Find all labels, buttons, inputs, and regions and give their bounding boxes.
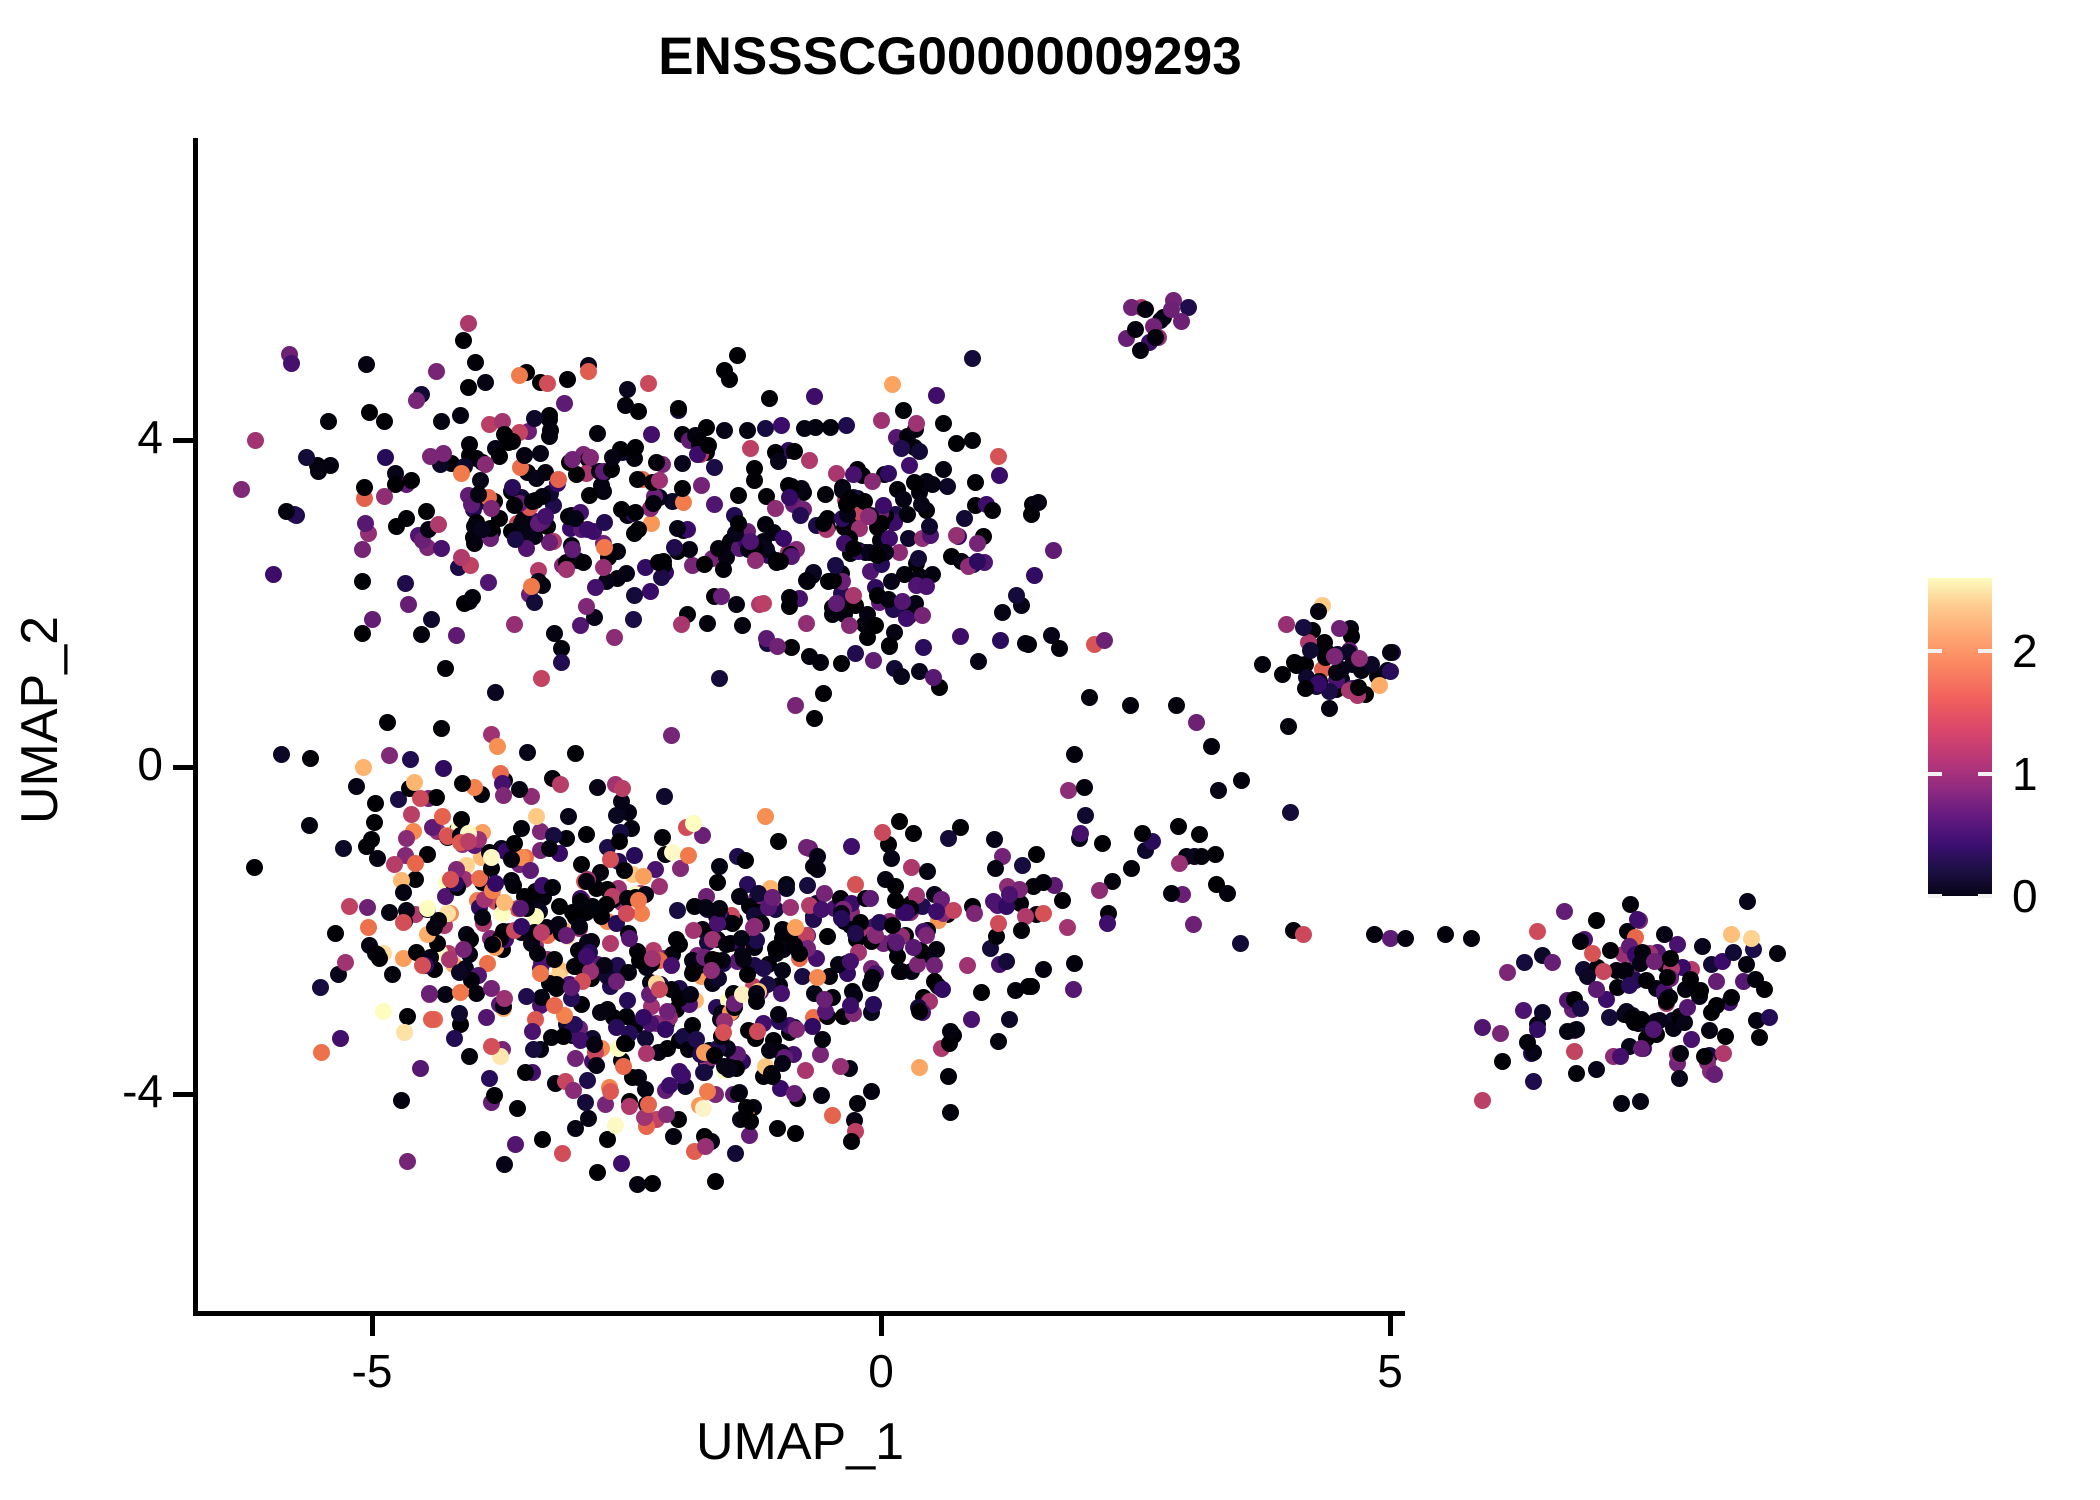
- scatter-point: [460, 379, 477, 396]
- scatter-point: [847, 645, 864, 662]
- scatter-point: [302, 750, 319, 767]
- scatter-point: [715, 561, 732, 578]
- scatter-point: [1662, 950, 1679, 967]
- scatter-point: [1094, 835, 1111, 852]
- scatter-point: [865, 652, 882, 669]
- scatter-point: [934, 981, 951, 998]
- scatter-point: [533, 924, 550, 941]
- scatter-point: [428, 363, 445, 380]
- scatter-point: [1676, 1014, 1693, 1031]
- scatter-point: [1185, 916, 1202, 933]
- scatter-point: [1397, 930, 1414, 947]
- scatter-point: [614, 780, 631, 797]
- scatter-point: [757, 808, 774, 825]
- scatter-point: [407, 855, 424, 872]
- colorbar-tick: [1928, 649, 1942, 653]
- colorbar-tick: [1928, 772, 1942, 776]
- scatter-point: [1331, 620, 1348, 637]
- scatter-point: [787, 1125, 804, 1142]
- scatter-point: [564, 451, 581, 468]
- scatter-point: [552, 776, 569, 793]
- scatter-point: [369, 850, 386, 867]
- scatter-point: [1072, 825, 1089, 842]
- scatter-point: [337, 954, 354, 971]
- scatter-point: [1588, 912, 1605, 929]
- scatter-point: [1020, 636, 1037, 653]
- scatter-point: [377, 449, 394, 466]
- scatter-point: [1626, 1014, 1643, 1031]
- scatter-point: [606, 629, 623, 646]
- scatter-point: [1529, 1021, 1546, 1038]
- scatter-plot-area: [196, 138, 1404, 1313]
- scatter-point: [769, 1120, 786, 1137]
- scatter-point: [619, 381, 636, 398]
- scatter-point: [964, 350, 981, 367]
- scatter-point: [806, 710, 823, 727]
- scatter-point: [627, 439, 644, 456]
- scatter-point: [496, 894, 513, 911]
- scatter-point: [546, 625, 563, 642]
- scatter-point: [994, 604, 1011, 621]
- scatter-point: [448, 627, 465, 644]
- scatter-point: [1295, 926, 1312, 943]
- scatter-point: [804, 1018, 821, 1035]
- scatter-point: [820, 573, 837, 590]
- scatter-point: [1463, 930, 1480, 947]
- scatter-point: [883, 850, 900, 867]
- scatter-point: [862, 975, 879, 992]
- scatter-point: [895, 402, 912, 419]
- scatter-point: [635, 1009, 652, 1026]
- scatter-point: [363, 831, 380, 848]
- scatter-point: [403, 806, 420, 823]
- scatter-point: [626, 525, 643, 542]
- scatter-point: [1065, 981, 1082, 998]
- scatter-point: [558, 561, 575, 578]
- scatter-point: [1534, 1004, 1551, 1021]
- scatter-point: [559, 371, 576, 388]
- scatter-point: [506, 835, 523, 852]
- scatter-point: [461, 1048, 478, 1065]
- scatter-point: [1696, 1048, 1713, 1065]
- scatter-point: [788, 1021, 805, 1038]
- scatter-point: [684, 965, 701, 982]
- scatter-point: [787, 919, 804, 936]
- scatter-point: [567, 1120, 584, 1137]
- scatter-point: [1310, 603, 1327, 620]
- scatter-point: [1568, 1065, 1585, 1082]
- scatter-point: [774, 1055, 791, 1072]
- scatter-point: [864, 473, 881, 490]
- scatter-point: [1188, 714, 1205, 731]
- scatter-point: [940, 1068, 957, 1085]
- scatter-point: [433, 413, 450, 430]
- scatter-point: [376, 488, 393, 505]
- scatter-point: [1066, 746, 1083, 763]
- scatter-point: [413, 626, 430, 643]
- scatter-point: [312, 979, 329, 996]
- scatter-point: [700, 437, 717, 454]
- scatter-point: [579, 1072, 596, 1089]
- scatter-point: [423, 611, 440, 628]
- scatter-point: [671, 936, 688, 953]
- scatter-point: [403, 472, 420, 489]
- scatter-point: [1203, 738, 1220, 755]
- scatter-point: [341, 898, 358, 915]
- scatter-point: [727, 1145, 744, 1162]
- scatter-point: [697, 1138, 714, 1155]
- scatter-point: [673, 616, 690, 633]
- scatter-point: [399, 1008, 416, 1025]
- scatter-point: [1515, 1002, 1532, 1019]
- scatter-point: [935, 461, 952, 478]
- scatter-point: [507, 1136, 524, 1153]
- scatter-point: [1595, 963, 1612, 980]
- scatter-point: [426, 919, 443, 936]
- scatter-point: [578, 826, 595, 843]
- scatter-point: [433, 540, 450, 557]
- scatter-point: [517, 1064, 534, 1081]
- scatter-point: [842, 997, 859, 1014]
- scatter-point: [769, 638, 786, 655]
- scatter-point: [511, 367, 528, 384]
- scatter-point: [556, 395, 573, 412]
- scatter-point: [755, 960, 772, 977]
- scatter-point: [1559, 1023, 1576, 1040]
- scatter-point: [1163, 885, 1180, 902]
- y-tick--4: [173, 1092, 194, 1097]
- scatter-point: [1035, 905, 1052, 922]
- scatter-point: [827, 557, 844, 574]
- scatter-point: [659, 1040, 676, 1057]
- scatter-point: [699, 1083, 716, 1100]
- scatter-point: [503, 872, 520, 889]
- y-axis-line: [193, 138, 198, 1316]
- scatter-point: [518, 988, 535, 1005]
- scatter-point: [355, 759, 372, 776]
- scatter-point: [638, 1045, 655, 1062]
- scatter-point: [963, 1011, 980, 1028]
- scatter-point: [730, 487, 747, 504]
- scatter-point: [1743, 930, 1760, 947]
- scatter-point: [663, 727, 680, 744]
- scatter-point: [504, 479, 521, 496]
- scatter-point: [874, 824, 891, 841]
- scatter-point: [734, 617, 751, 634]
- scatter-point: [1278, 616, 1295, 633]
- scatter-point: [596, 539, 613, 556]
- y-tick-4: [173, 438, 194, 443]
- scatter-point: [1123, 860, 1140, 877]
- scatter-point: [969, 553, 986, 570]
- scatter-point: [1708, 997, 1725, 1014]
- scatter-point: [629, 471, 646, 488]
- scatter-point: [247, 432, 264, 449]
- scatter-point: [1051, 640, 1068, 657]
- colorbar-tick: [1978, 772, 1992, 776]
- scatter-point: [381, 747, 398, 764]
- scatter-point: [778, 880, 795, 897]
- scatter-point: [1679, 999, 1696, 1016]
- scatter-point: [663, 957, 680, 974]
- scatter-point: [1326, 648, 1343, 665]
- scatter-point: [273, 746, 290, 763]
- scatter-point: [503, 851, 520, 868]
- scatter-point: [843, 1133, 860, 1150]
- scatter-point: [480, 574, 497, 591]
- scatter-point: [470, 486, 487, 503]
- scatter-point: [891, 813, 908, 830]
- scatter-point: [761, 1042, 778, 1059]
- scatter-point: [598, 896, 615, 913]
- scatter-point: [1280, 718, 1297, 735]
- scatter-point: [1672, 1045, 1689, 1062]
- scatter-point: [434, 808, 451, 825]
- scatter-point: [407, 871, 424, 888]
- scatter-point: [1529, 923, 1546, 940]
- scatter-point: [653, 569, 670, 586]
- scatter-point: [587, 579, 604, 596]
- x-tick-label--5: -5: [352, 1344, 393, 1398]
- scatter-point: [842, 953, 859, 970]
- scatter-point: [770, 453, 787, 470]
- scatter-point: [669, 902, 686, 919]
- scatter-point: [924, 476, 941, 493]
- scatter-point: [613, 501, 630, 518]
- scatter-point: [959, 957, 976, 974]
- scatter-point: [526, 594, 543, 611]
- scatter-point: [359, 899, 376, 916]
- scatter-point: [739, 422, 756, 439]
- scatter-point: [706, 459, 723, 476]
- scatter-point: [1191, 826, 1208, 843]
- scatter-point: [384, 966, 401, 983]
- scatter-point: [798, 572, 815, 589]
- scatter-point: [1638, 972, 1655, 989]
- colorbar-tick: [1978, 649, 1992, 653]
- scatter-point: [654, 829, 671, 846]
- scatter-point: [617, 397, 634, 414]
- scatter-point: [626, 847, 643, 864]
- scatter-point: [833, 655, 850, 672]
- scatter-point: [801, 648, 818, 665]
- scatter-point: [845, 540, 862, 557]
- scatter-point: [1035, 961, 1052, 978]
- scatter-point: [1382, 930, 1399, 947]
- scatter-point: [699, 615, 716, 632]
- colorbar-label-2: 2: [2012, 624, 2038, 678]
- scatter-point: [453, 465, 470, 482]
- scatter-point: [483, 1038, 500, 1055]
- scatter-point: [298, 449, 315, 466]
- scatter-point: [730, 515, 747, 532]
- scatter-point: [710, 540, 727, 557]
- chart-canvas: ENSSSCG00000009293 -404 -505 UMAP_1 UMAP…: [0, 0, 2100, 1500]
- scatter-point: [451, 1005, 468, 1022]
- scatter-point: [774, 962, 791, 979]
- scatter-point: [1723, 989, 1740, 1006]
- scatter-point: [1525, 1073, 1542, 1090]
- scatter-point: [695, 1100, 712, 1117]
- scatter-point: [460, 315, 477, 332]
- scatter-point: [477, 456, 494, 473]
- scatter-point: [1701, 1022, 1718, 1039]
- scatter-point: [618, 565, 635, 582]
- scatter-point: [1474, 1019, 1491, 1036]
- scatter-point: [867, 617, 884, 634]
- scatter-point: [737, 852, 754, 869]
- scatter-point: [716, 1058, 733, 1075]
- scatter-point: [709, 874, 726, 891]
- scatter-point: [862, 890, 879, 907]
- scatter-point: [893, 668, 910, 685]
- scatter-point: [915, 639, 932, 656]
- scatter-point: [301, 817, 318, 834]
- scatter-point: [423, 1011, 440, 1028]
- scatter-point: [496, 1156, 513, 1173]
- scatter-point: [928, 903, 945, 920]
- scatter-point: [739, 966, 756, 983]
- scatter-point: [905, 939, 922, 956]
- scatter-point: [546, 997, 563, 1014]
- scatter-point: [863, 1083, 880, 1100]
- scatter-point: [1645, 1021, 1662, 1038]
- scatter-point: [1632, 1093, 1649, 1110]
- scatter-point: [906, 474, 923, 491]
- scatter-point: [466, 535, 483, 552]
- scatter-point: [1371, 677, 1388, 694]
- scatter-point: [608, 1019, 625, 1036]
- scatter-point: [398, 830, 415, 847]
- scatter-point: [626, 587, 643, 604]
- scatter-point: [354, 625, 371, 642]
- scatter-point: [596, 514, 613, 531]
- x-tick-0: [879, 1316, 884, 1336]
- scatter-point: [578, 873, 595, 890]
- scatter-point: [1060, 782, 1077, 799]
- scatter-point: [873, 412, 890, 429]
- scatter-point: [742, 1113, 759, 1130]
- scatter-point: [1613, 1095, 1630, 1112]
- scatter-point: [1282, 804, 1299, 821]
- scatter-point: [1437, 926, 1454, 943]
- scatter-point: [402, 751, 419, 768]
- scatter-point: [815, 685, 832, 702]
- scatter-point: [1516, 954, 1533, 971]
- scatter-point: [544, 879, 561, 896]
- scatter-point: [532, 445, 549, 462]
- scatter-point: [327, 925, 344, 942]
- y-tick-label--4: -4: [0, 1064, 163, 1118]
- scatter-point: [478, 1009, 495, 1026]
- scatter-point: [1091, 882, 1108, 899]
- scatter-point: [696, 556, 713, 573]
- scatter-point: [728, 596, 745, 613]
- scatter-point: [1045, 542, 1062, 559]
- scatter-point: [360, 919, 377, 936]
- scatter-point: [884, 376, 901, 393]
- scatter-point: [564, 541, 581, 558]
- scatter-point: [1233, 772, 1250, 789]
- scatter-point: [849, 1095, 866, 1112]
- scatter-point: [824, 1107, 841, 1124]
- scatter-point: [625, 611, 642, 628]
- scatter-point: [567, 745, 584, 762]
- scatter-point: [767, 500, 784, 517]
- scatter-point: [881, 638, 898, 655]
- scatter-point: [911, 1059, 928, 1076]
- scatter-point: [1646, 953, 1663, 970]
- scatter-point: [539, 375, 556, 392]
- scatter-point: [1028, 846, 1045, 863]
- scatter-point: [635, 868, 652, 885]
- scatter-point: [893, 440, 910, 457]
- scatter-point: [1168, 697, 1185, 714]
- scatter-point: [1612, 1048, 1629, 1065]
- y-axis-label: UMAP_2: [10, 370, 70, 1070]
- scatter-point: [528, 808, 545, 825]
- scatter-point: [455, 941, 472, 958]
- scatter-point: [512, 900, 529, 917]
- scatter-point: [1683, 1031, 1700, 1048]
- scatter-point: [664, 844, 681, 861]
- scatter-point: [841, 617, 858, 634]
- scatter-point: [357, 515, 374, 532]
- scatter-point: [746, 460, 763, 477]
- scatter-point: [1099, 915, 1116, 932]
- scatter-point: [1134, 825, 1151, 842]
- scatter-point: [970, 653, 987, 670]
- scatter-point: [767, 940, 784, 957]
- scatter-point: [613, 1155, 630, 1172]
- scatter-point: [522, 862, 539, 879]
- scatter-point: [1026, 567, 1043, 584]
- scatter-point: [1122, 697, 1139, 714]
- scatter-point: [356, 479, 373, 496]
- y-tick-0: [173, 765, 194, 770]
- scatter-point: [707, 1173, 724, 1190]
- scatter-point: [554, 1145, 571, 1162]
- scatter-point: [883, 573, 900, 590]
- scatter-point: [375, 1003, 392, 1020]
- scatter-point: [489, 738, 506, 755]
- scatter-point: [801, 452, 818, 469]
- scatter-point: [379, 714, 396, 731]
- scatter-point: [519, 744, 536, 761]
- scatter-point: [428, 789, 445, 806]
- scatter-point: [1302, 642, 1319, 659]
- scatter-point: [1621, 977, 1638, 994]
- scatter-point: [1659, 969, 1676, 986]
- scatter-point: [533, 670, 550, 687]
- scatter-point: [659, 1003, 676, 1020]
- scatter-point: [813, 1087, 830, 1104]
- scatter-point: [335, 840, 352, 857]
- scatter-point: [452, 407, 469, 424]
- scatter-point: [332, 1030, 349, 1047]
- scatter-point: [656, 788, 673, 805]
- scatter-point: [586, 1036, 603, 1053]
- scatter-point: [942, 1023, 959, 1040]
- scatter-point: [1321, 700, 1338, 717]
- scatter-point: [1001, 1011, 1018, 1028]
- scatter-point: [880, 465, 897, 482]
- scatter-point: [786, 937, 803, 954]
- scatter-point: [939, 478, 956, 495]
- scatter-point: [956, 510, 973, 527]
- scatter-point: [1030, 494, 1047, 511]
- colorbar-legend: [1928, 578, 1992, 896]
